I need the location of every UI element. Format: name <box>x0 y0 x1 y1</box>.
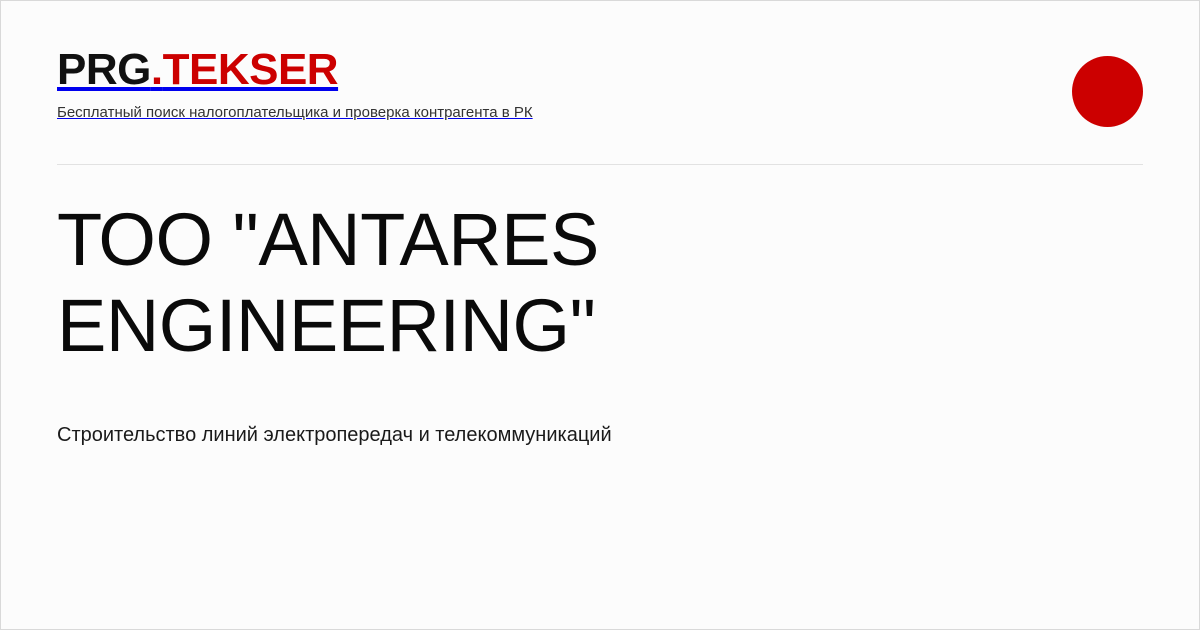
site-header: PRG.TEKSER Бесплатный поиск налогоплател… <box>57 45 1143 165</box>
logo-text-accent: TEKSER <box>163 45 338 94</box>
logo-dot: . <box>151 45 163 94</box>
site-tagline: Бесплатный поиск налогоплательщика и про… <box>57 103 533 123</box>
logo-text-primary: PRG <box>57 45 151 94</box>
company-name-title: ТОО "ANTARES ENGINEERING" <box>57 197 757 369</box>
site-brand-link[interactable]: PRG.TEKSER Бесплатный поиск налогоплател… <box>57 45 533 123</box>
company-activity-description: Строительство линий электропередач и тел… <box>57 422 757 448</box>
red-circle-icon <box>1072 56 1143 127</box>
site-logo: PRG.TEKSER <box>57 45 533 95</box>
main-content: ТОО "ANTARES ENGINEERING" Строительство … <box>57 197 757 448</box>
header-divider <box>57 164 1143 165</box>
og-preview-card: PRG.TEKSER Бесплатный поиск налогоплател… <box>0 0 1200 630</box>
